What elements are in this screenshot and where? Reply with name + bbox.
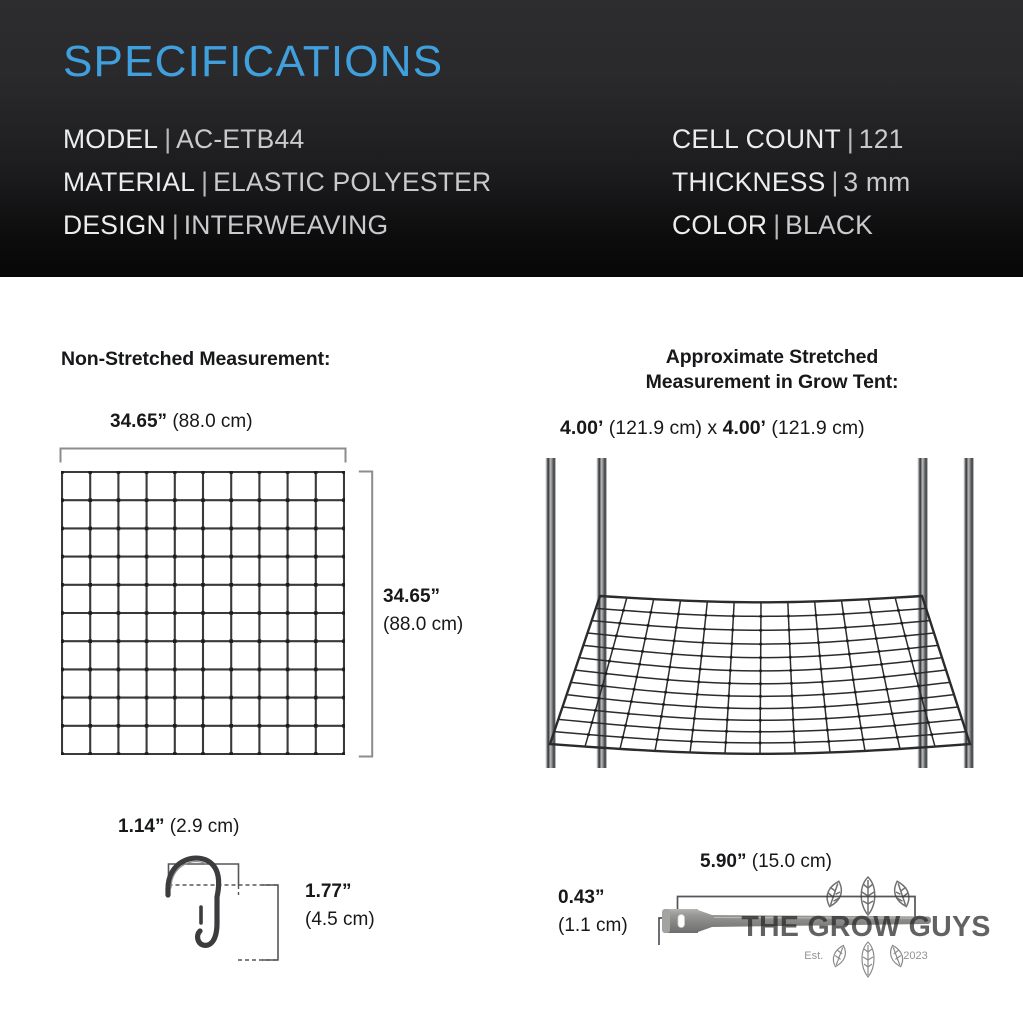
non-stretched-net-grid [61,471,345,755]
spec-value: BLACK [785,210,873,240]
spec-label: COLOR [672,210,767,240]
velcro-strap-svg [660,903,960,943]
spec-row-thickness: THICKNESS|3 mm [672,161,910,204]
s-hook-illustration [160,845,290,965]
hook-width-inches: 1.14” [118,816,164,837]
spec-label: THICKNESS [672,167,825,197]
stretched-heading-line2: Measurement in Grow Tent: [646,371,899,393]
watermark-est-line: Est.2023 [716,950,1016,962]
watermark-est-label: Est. [804,950,823,962]
spec-row-design: DESIGN|INTERWEAVING [63,204,491,247]
page-title: SPECIFICATIONS [63,40,443,84]
spec-value: AC-ETB44 [176,124,304,154]
strap-height-cm: (1.1 cm) [558,915,628,936]
spec-separator: | [841,124,859,154]
grid-height-cm: (88.0 cm) [383,614,463,635]
hook-width-cm: (2.9 cm) [170,816,240,837]
spec-column-left: MODEL|AC-ETB44 MATERIAL|ELASTIC POLYESTE… [63,118,491,247]
grid-width-cm-value: (88.0 cm) [172,411,252,432]
stretched-net-svg [520,458,1000,768]
spec-column-right: CELL COUNT|121 THICKNESS|3 mm COLOR|BLAC… [672,118,910,247]
stretched-depth-ft: 4.00’ [723,417,766,439]
spec-label: MODEL [63,124,158,154]
hook-height-dimension: 1.77” (4.5 cm) [305,878,415,934]
specification-sheet: SPECIFICATIONS MODEL|AC-ETB44 MATERIAL|E… [0,0,1023,1023]
grid-width-inches: 34.65” [110,411,167,432]
spec-value: 121 [859,124,904,154]
hook-height-cm: (4.5 cm) [305,909,375,930]
velcro-strap-illustration [660,903,960,943]
spec-row-material: MATERIAL|ELASTIC POLYESTER [63,161,491,204]
spec-separator: | [158,124,176,154]
spec-label: CELL COUNT [672,124,841,154]
spec-label: DESIGN [63,210,166,240]
spec-value: 3 mm [843,167,910,197]
stretched-width-ft: 4.00’ [560,417,603,439]
spec-row-model: MODEL|AC-ETB44 [63,118,491,161]
grid-width-dimension: 34.65” (88.0 cm) [110,411,253,433]
strap-height-inches: 0.43” [558,887,604,908]
stretched-heading: Approximate Stretched Measurement in Gro… [588,345,956,395]
strap-length-cm: (15.0 cm) [752,851,832,872]
stretched-width-cm: (121.9 cm) [609,417,702,439]
header-band: SPECIFICATIONS MODEL|AC-ETB44 MATERIAL|E… [0,0,1023,277]
grid-height-dimension: 34.65” (88.0 cm) [383,583,513,639]
grid-height-inches: 34.65” [383,586,440,607]
stretched-dimension: 4.00’ (121.9 cm) x 4.00’ (121.9 cm) [560,417,865,440]
spec-separator: | [825,167,843,197]
watermark-year: 2023 [903,950,927,962]
stretched-times: x [707,417,717,439]
net-grid-svg [61,471,345,755]
stretched-heading-line1: Approximate Stretched [666,346,878,368]
hook-height-inches: 1.77” [305,881,351,902]
strap-length-inches: 5.90” [700,851,746,872]
spec-separator: | [767,210,785,240]
non-stretched-heading: Non-Stretched Measurement: [61,348,330,371]
spec-row-cell-count: CELL COUNT|121 [672,118,910,161]
hook-width-dimension: 1.14” (2.9 cm) [118,816,239,838]
spec-separator: | [166,210,184,240]
leaf-trio-bottom-icon [828,940,908,982]
stretched-depth-cm: (121.9 cm) [771,417,864,439]
grow-tent-illustration [520,458,1000,768]
grid-height-bracket [358,470,374,758]
strap-height-dimension: 0.43” (1.1 cm) [558,884,668,940]
grid-width-bracket [59,447,347,463]
spec-value: INTERWEAVING [184,210,389,240]
spec-row-color: COLOR|BLACK [672,204,910,247]
spec-value: ELASTIC POLYESTER [213,167,491,197]
spec-label: MATERIAL [63,167,195,197]
spec-separator: | [195,167,213,197]
s-hook-svg [160,845,290,965]
